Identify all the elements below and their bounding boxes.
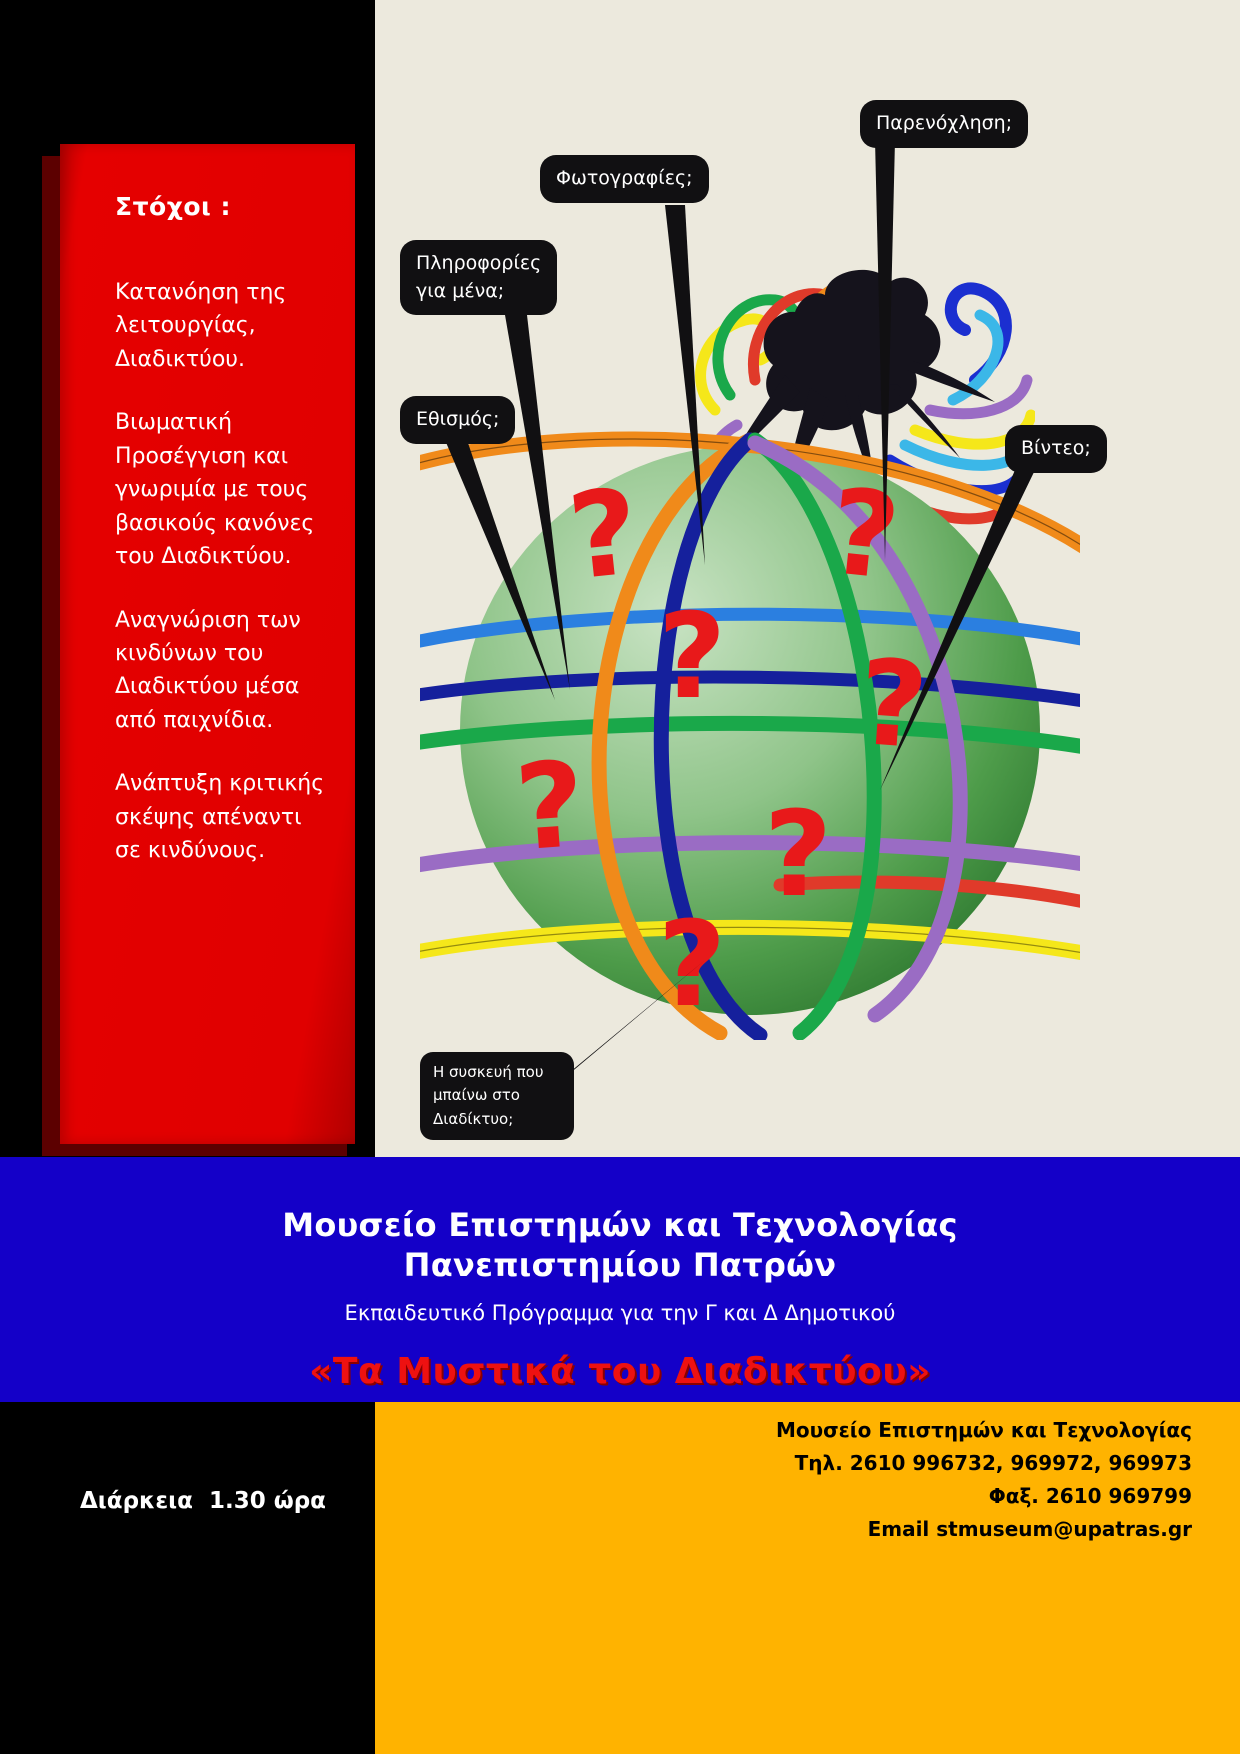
bubble-syskevi[interactable]: Η συσκευή που μπαίνω στο Διαδίκτυο;	[420, 1052, 574, 1140]
contact-line-museum: Μουσείο Επιστημών και Τεχνολογίας	[776, 1414, 1192, 1447]
program-subtitle: Εκπαιδευτικό Πρόγραμμα για την Γ και Δ Δ…	[0, 1301, 1240, 1325]
bubble-parenochlisi[interactable]: Παρενόχληση;	[860, 100, 1028, 148]
bubble-video[interactable]: Βίντεο;	[1005, 425, 1107, 473]
artwork-panel: ? ? ? ? ? ? ?	[375, 0, 1240, 1157]
bubble-fotografies[interactable]: Φωτογραφίες;	[540, 155, 709, 203]
contact-line-phone: Τηλ. 2610 996732, 969972, 969973	[776, 1447, 1192, 1480]
museum-banner: Μουσείο Επιστημών και Τεχνολογίας Πανεπι…	[0, 1157, 1240, 1402]
contact-line-email[interactable]: Email stmuseum@upatras.gr	[776, 1513, 1192, 1546]
goals-title: Στόχοι :	[115, 192, 325, 221]
museum-title-line2: Πανεπιστημίου Πατρών	[0, 1245, 1240, 1285]
duration-bar: Διάρκεια 1.30 ώρα	[0, 1402, 375, 1754]
goal-item-3: Αναγνώριση των κινδύνων του Διαδικτύου μ…	[115, 604, 325, 738]
contact-block: Μουσείο Επιστημών και Τεχνολογίας Τηλ. 2…	[776, 1414, 1192, 1546]
goal-item-4: Ανάπτυξη κριτικής σκέψης απέναντι σε κιν…	[115, 767, 325, 867]
goals-panel: Στόχοι : Κατανόηση της λειτουργίας, Διαδ…	[60, 144, 355, 1144]
program-headline: «Τα Μυστικά του Διαδικτύου»	[0, 1351, 1240, 1392]
bubble-plirofories[interactable]: Πληροφορίες για μένα;	[400, 240, 557, 315]
bubble-ethismos[interactable]: Εθισμός;	[400, 396, 515, 444]
contact-bar: Μουσείο Επιστημών και Τεχνολογίας Τηλ. 2…	[375, 1402, 1240, 1754]
poster-root: ? ? ? ? ? ? ?	[0, 0, 1240, 1754]
contact-line-fax: Φαξ. 2610 969799	[776, 1480, 1192, 1513]
duration-text: Διάρκεια 1.30 ώρα	[80, 1488, 326, 1514]
museum-title-line1: Μουσείο Επιστημών και Τεχνολογίας	[0, 1205, 1240, 1245]
goal-item-1: Κατανόηση της λειτουργίας, Διαδικτύου.	[115, 276, 325, 376]
bubble-pointer-tails	[375, 0, 1240, 1157]
goal-item-2: Βιωματική Προσέγγιση και γνωριμία με του…	[115, 406, 325, 573]
